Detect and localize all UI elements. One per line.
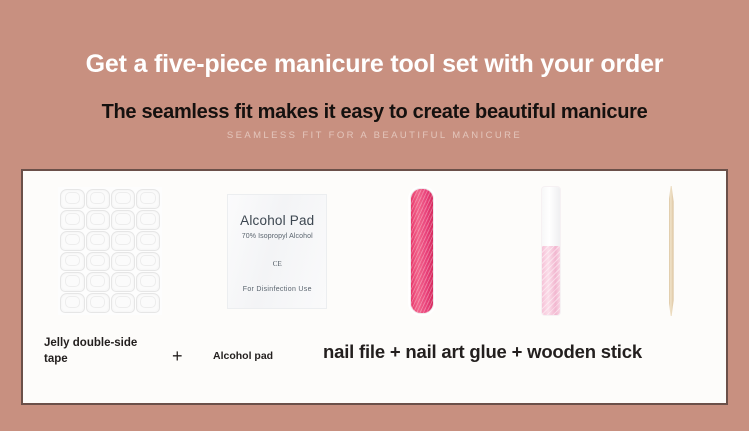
packet-subtitle: 70% Isopropyl Alcohol xyxy=(242,233,313,240)
tape-tab xyxy=(111,272,135,292)
label-jelly-tape: Jelly double-side tape xyxy=(44,336,164,367)
tape-tab xyxy=(136,293,160,313)
ce-mark-icon: CE xyxy=(273,260,282,268)
product-slot-alcohol-pad: Alcohol Pad 70% Isopropyl Alcohol CE For… xyxy=(198,176,358,326)
product-label-row: Jelly double-side tape + Alcohol pad nai… xyxy=(23,329,726,387)
product-slot-nail-art-glue xyxy=(487,176,617,326)
tape-tab xyxy=(111,231,135,251)
headings-block: Get a five-piece manicure tool set with … xyxy=(0,0,749,141)
tape-tab xyxy=(136,272,160,292)
tape-tab xyxy=(86,272,110,292)
tape-tab xyxy=(60,252,84,272)
product-slot-jelly-tape xyxy=(23,176,198,326)
product-slot-wooden-stick xyxy=(616,176,726,326)
tape-tab xyxy=(86,252,110,272)
tape-tab xyxy=(60,293,84,313)
tape-tab xyxy=(111,189,135,209)
glue-cap xyxy=(542,187,560,246)
glue-bottle-icon xyxy=(542,187,560,315)
product-slot-nail-file xyxy=(357,176,487,326)
page-title: Get a five-piece manicure tool set with … xyxy=(0,0,749,79)
tape-tab xyxy=(60,189,84,209)
alcohol-pad-packet-icon: Alcohol Pad 70% Isopropyl Alcohol CE For… xyxy=(227,194,327,309)
glue-body xyxy=(542,246,560,315)
tape-tab xyxy=(60,210,84,230)
tape-tab xyxy=(86,293,110,313)
tape-tab xyxy=(111,293,135,313)
tape-tab xyxy=(86,189,110,209)
packet-title: Alcohol Pad xyxy=(240,213,314,228)
tape-tab xyxy=(136,231,160,251)
tape-tab xyxy=(111,210,135,230)
promo-banner: Get a five-piece manicure tool set with … xyxy=(0,0,749,431)
tape-tab xyxy=(111,252,135,272)
plus-separator: + xyxy=(172,346,183,367)
wooden-stick-icon xyxy=(669,186,674,316)
tape-sheet-icon xyxy=(58,187,162,315)
label-alcohol-pad: Alcohol pad xyxy=(213,350,273,362)
nail-file-icon xyxy=(410,188,434,314)
packet-usage-text: For Disinfection Use xyxy=(243,286,312,293)
tape-tab xyxy=(136,252,160,272)
product-panel: Alcohol Pad 70% Isopropyl Alcohol CE For… xyxy=(21,169,728,405)
label-remaining-items: nail file + nail art glue + wooden stick xyxy=(323,341,642,363)
tape-tab xyxy=(60,231,84,251)
tape-tab xyxy=(60,272,84,292)
tape-tab xyxy=(86,210,110,230)
page-tagline: SEAMLESS FIT FOR A BEAUTIFUL MANICURE xyxy=(0,124,749,141)
page-subtitle: The seamless fit makes it easy to create… xyxy=(0,79,749,124)
product-image-row: Alcohol Pad 70% Isopropyl Alcohol CE For… xyxy=(23,171,726,331)
tape-tab xyxy=(86,231,110,251)
tape-tab xyxy=(136,189,160,209)
tape-tab xyxy=(136,210,160,230)
